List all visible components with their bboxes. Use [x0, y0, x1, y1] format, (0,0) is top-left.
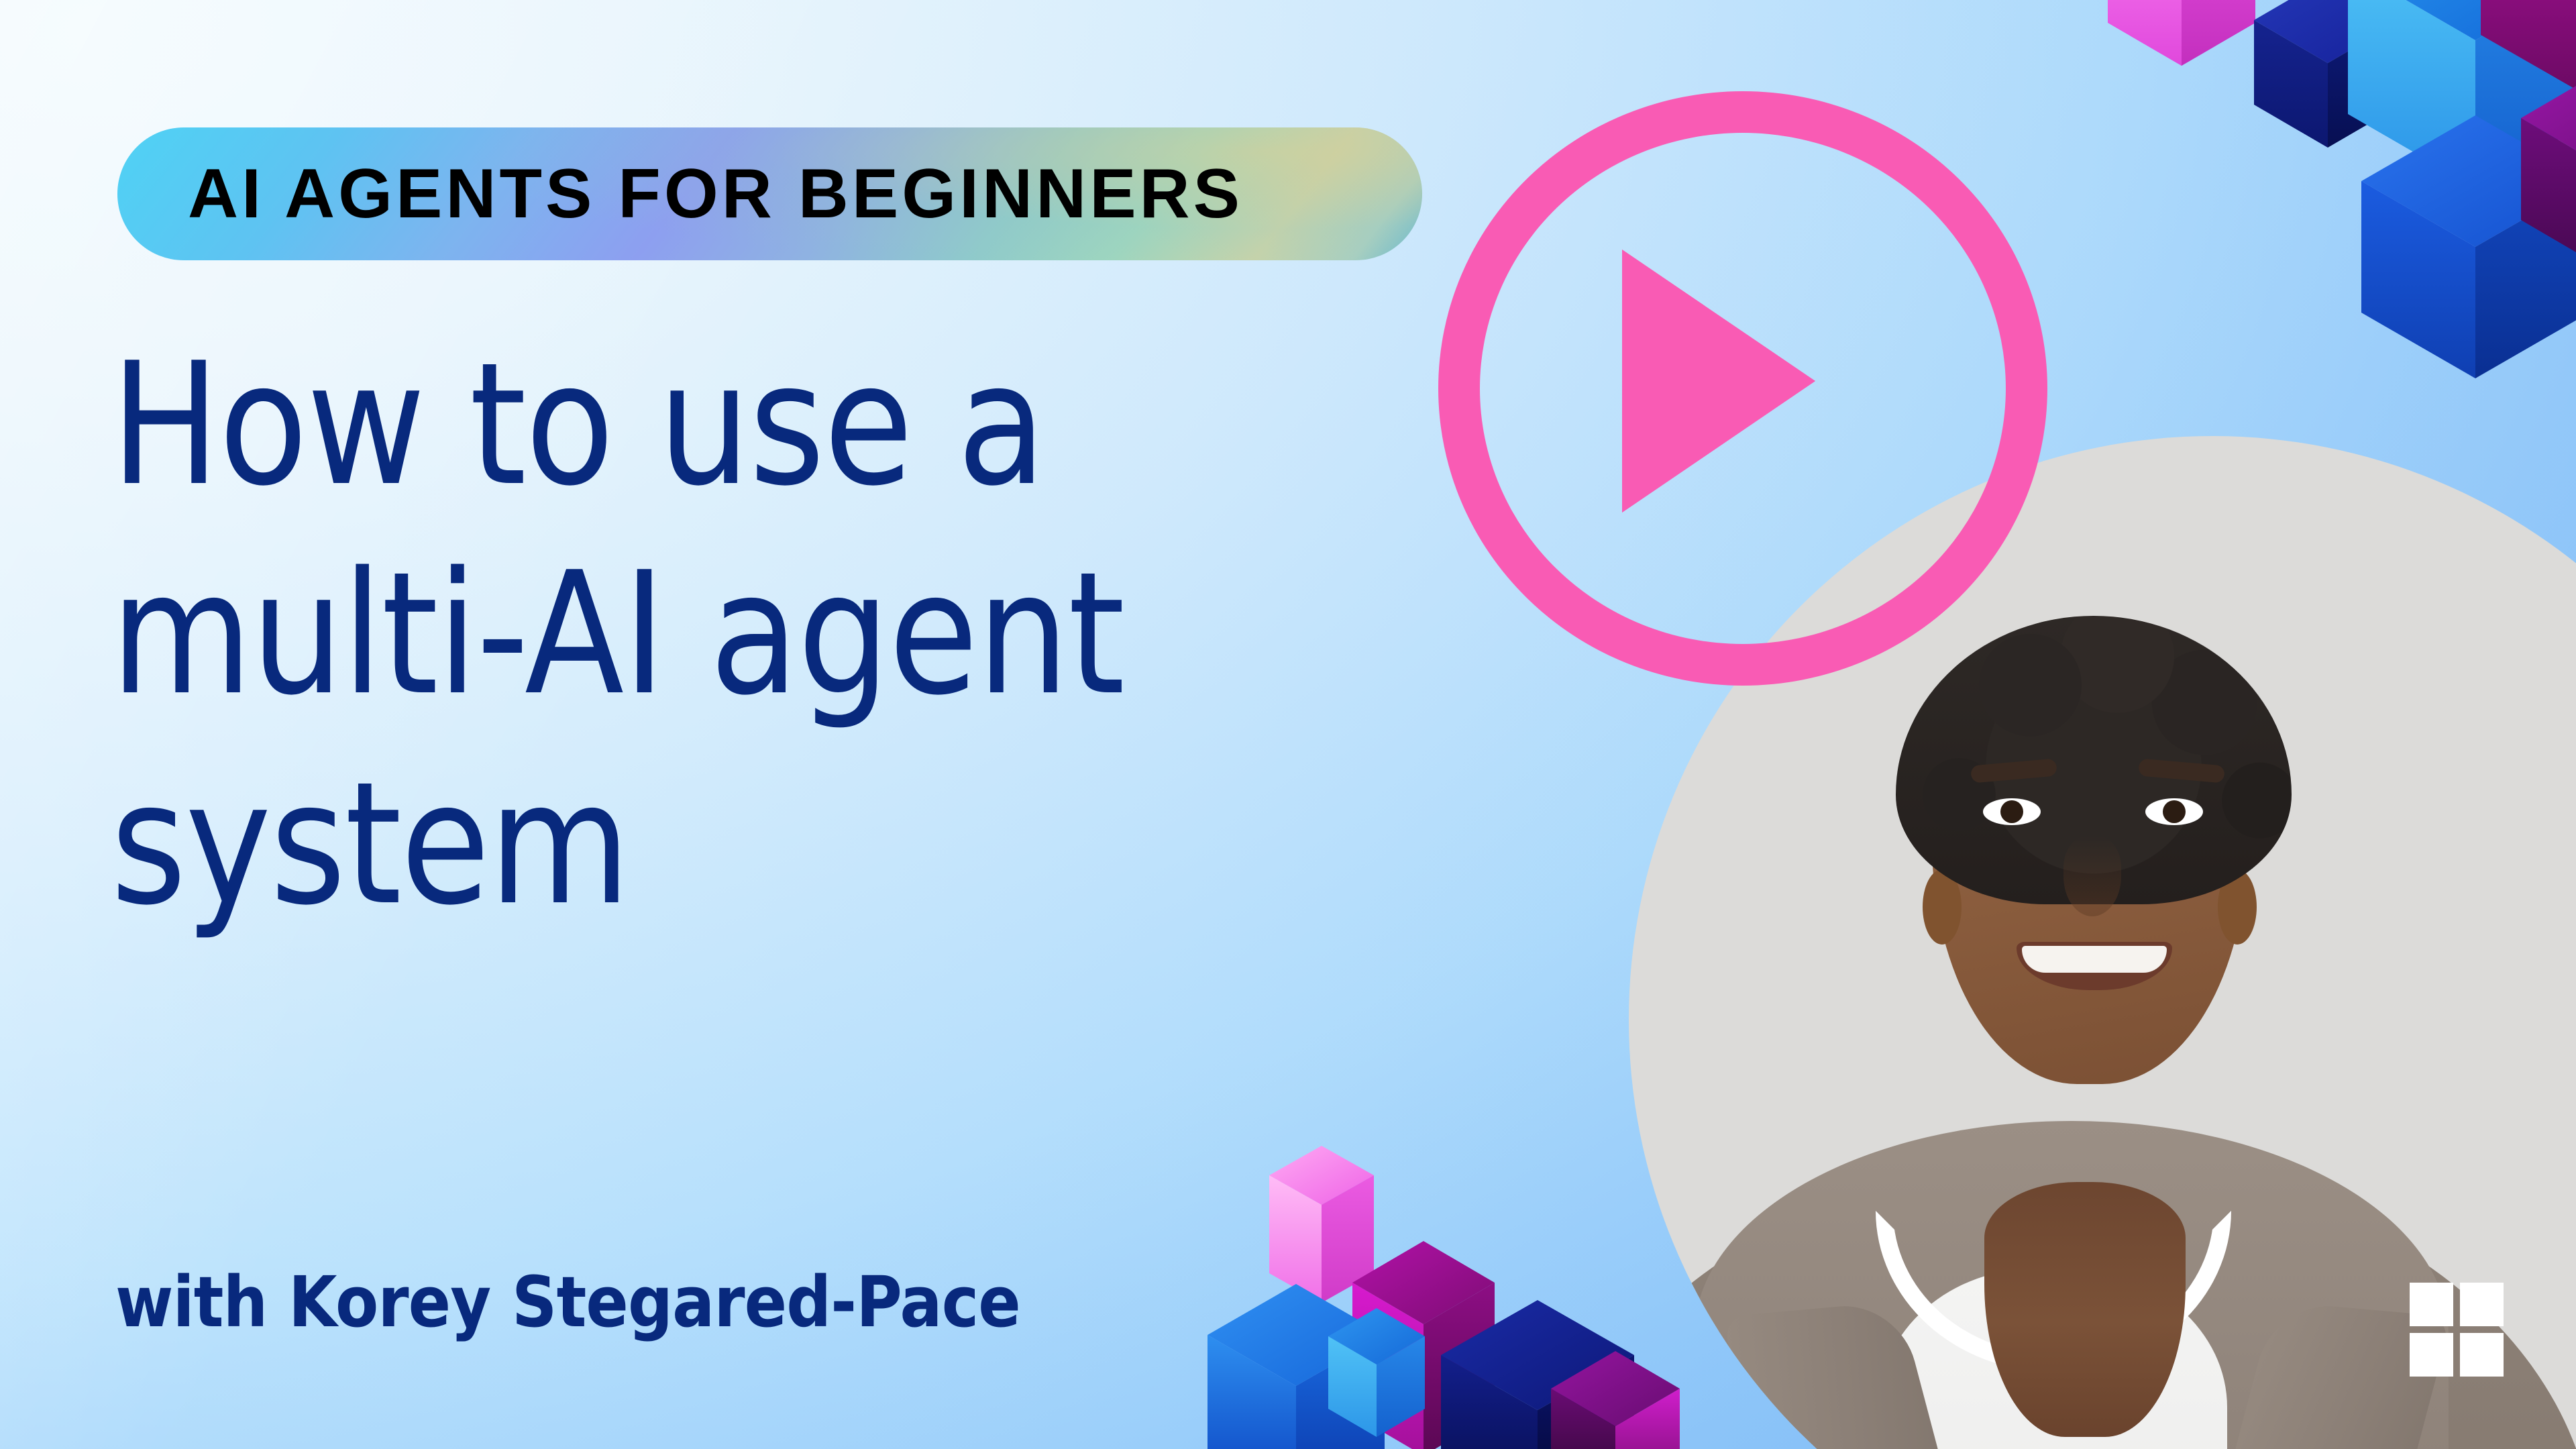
logo-square-top-right [2460, 1283, 2504, 1326]
cube-pink-light [2108, 0, 2255, 66]
eye-right [2145, 798, 2203, 825]
title-line-2: multi-AI agent [111, 530, 1293, 739]
logo-square-bottom-right [2460, 1333, 2504, 1377]
series-badge-label: AI AGENTS FOR BEGINNERS [188, 159, 1243, 229]
speaker-byline: with Korey Stegared-Pace [115, 1261, 1020, 1343]
play-button[interactable] [1438, 91, 2047, 686]
play-triangle-icon [1622, 250, 1815, 513]
title-line-3: system [111, 740, 1293, 949]
logo-square-top-left [2410, 1283, 2453, 1326]
logo-square-bottom-left [2410, 1333, 2453, 1377]
series-badge: AI AGENTS FOR BEGINNERS [117, 127, 1422, 260]
title-line-1: How to use a [111, 321, 1293, 530]
cube-pink-tall [1269, 1146, 1374, 1303]
page-title: How to use a multi-AI agent system [111, 321, 1486, 949]
cube-cluster-top-right [2033, 0, 2576, 476]
neck [1984, 1182, 2186, 1437]
nose [2063, 836, 2121, 916]
thumbnail-canvas: AI AGENTS FOR BEGINNERS How to use a mul… [0, 0, 2576, 1449]
eye-left [1983, 798, 2041, 825]
microsoft-logo [2410, 1283, 2504, 1377]
teeth [2022, 946, 2167, 973]
